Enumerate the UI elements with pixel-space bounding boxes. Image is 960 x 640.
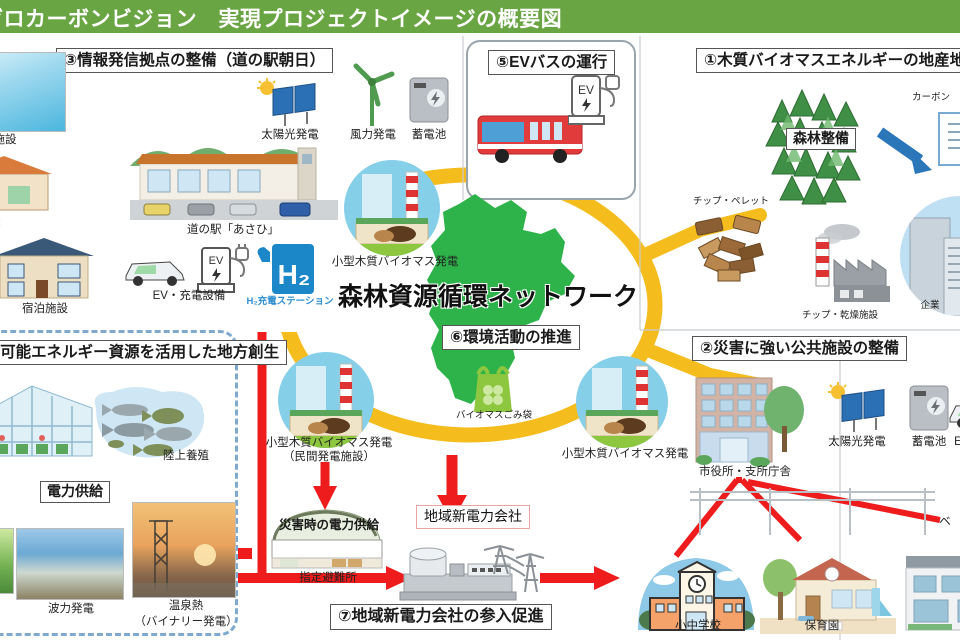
wave-power-photo <box>16 528 124 600</box>
greenhouse-icon <box>0 382 96 466</box>
power-plant-icon <box>396 540 546 602</box>
chip-pellet-label: チップ・ペレット <box>676 196 786 207</box>
ev-car-icon <box>122 252 188 288</box>
page-title: ゼロカーボンビジョン 実現プロジェクトイメージの概要図 <box>0 3 562 33</box>
aquaculture-label: 陸上養殖 <box>146 450 226 464</box>
biomass-plant-left-label-1: 小型木質バイオマス発電 <box>252 437 406 451</box>
battery-icon-p3 <box>404 70 454 128</box>
green-field-photo <box>0 528 14 594</box>
shelter-label: 指定避難所 <box>272 572 384 586</box>
page-header: ゼロカーボンビジョン 実現プロジェクトイメージの概要図 <box>0 0 960 33</box>
biomass-plant-top-label: 小型木質バイオマス発電 <box>320 256 470 270</box>
power-lines-p2 <box>690 488 935 535</box>
disaster-power-label: 災害時の電力供給 <box>272 516 386 536</box>
other-facility-label: ベ <box>930 516 960 530</box>
lodging-house-icon <box>0 238 96 300</box>
michinoeki-label: 道の駅「あさひ」 <box>148 224 318 238</box>
chip-drying-label: チップ・乾燥施設 <box>780 310 900 321</box>
onsen-heat-photo <box>132 502 236 598</box>
carbon-credit-doc-icon <box>938 112 960 166</box>
wind-label-p3: 風力発電 <box>342 129 404 143</box>
svg-text:EV: EV <box>209 255 224 267</box>
panel-3-caption: ③情報発信拠点の整備（道の駅朝日） <box>56 48 333 73</box>
battery-label-p3: 蓄電池 <box>400 129 458 143</box>
red-arrow-group-p2 <box>676 480 940 556</box>
biomass-plant-left-label-2: （民間発電施設） <box>252 451 406 465</box>
item-6-caption: ⑥環境活動の推進 <box>442 325 580 350</box>
h2-station-label: H₂充電ステーション <box>245 296 335 307</box>
lodging-label: 宿泊施設 <box>0 303 100 317</box>
red-arrow-bottom-right <box>540 566 620 590</box>
facility-b-label: 設 <box>0 216 20 230</box>
biomass-plant-circle-left <box>278 352 374 448</box>
infographic-canvas: ゼロカーボンビジョン 実現プロジェクトイメージの概要図 <box>0 0 960 640</box>
ev-charging-label: EV・充電設備 <box>128 290 250 304</box>
wave-power-label: 波力発電 <box>16 603 126 617</box>
wind-turbine-icon <box>348 60 396 128</box>
h2-station-icon: H₂ <box>250 240 322 296</box>
biomass-plant-right-label: 小型木質バイオマス発電 <box>550 448 700 462</box>
school-label: 小中学校 <box>648 620 748 634</box>
new-power-company-label: 地域新電力会社 <box>416 505 530 529</box>
roadside-station-icon <box>130 120 338 220</box>
ev-charger-icon: EV <box>196 244 258 296</box>
power-supply-label: 電力供給 <box>40 481 110 503</box>
nursery-label: 保育園 <box>782 620 862 634</box>
ev-label-p2: E <box>946 436 960 450</box>
svg-text:EV: EV <box>578 83 594 97</box>
ev-bus-charger-icon: EV <box>568 72 626 128</box>
panel-7-caption: ⑦地域新電力会社の参入促進 <box>330 604 552 630</box>
battery-icon-p2 <box>904 378 954 436</box>
biomass-bag-icon <box>466 360 520 414</box>
ev-car-icon-p2 <box>948 394 960 430</box>
onsen-label-line1: 温泉熱 <box>132 600 240 614</box>
onsen-label-line2: （バイナリー発電） <box>132 616 240 630</box>
panel-1-caption: ①木質バイオマスエネルギーの地産地消 <box>696 48 960 73</box>
city-hall-icon <box>690 370 806 470</box>
other-facility-icon <box>900 548 960 634</box>
panel-4-caption: ④再生可能エネルギー資源を活用した地方創生 <box>0 340 287 365</box>
facility-a-label: 施設 <box>0 134 32 148</box>
biomass-plant-circle-top <box>344 160 440 256</box>
carbon-credit-label: カーボン <box>912 92 960 103</box>
spa-building-icon <box>0 152 52 214</box>
biomass-plant-circle-right <box>576 356 668 448</box>
biomass-bag-label: バイオマスごみ袋 <box>440 410 548 421</box>
company-circle-icon <box>900 196 960 316</box>
center-title: 森林資源循環ネットワーク <box>338 277 638 313</box>
city-hall-label: 市役所・支所庁舎 <box>680 466 810 480</box>
forest-maintenance-label: 森林整備 <box>786 128 856 150</box>
svg-text:H₂: H₂ <box>278 259 311 290</box>
company-label: 企業 <box>900 300 960 311</box>
solar-panel-icon-p2 <box>824 382 892 434</box>
blue-arrow-carbon <box>880 132 932 174</box>
solar-label-p2: 太陽光発電 <box>820 436 894 450</box>
pool-photo <box>0 52 66 132</box>
red-arrow-left-down <box>313 462 337 510</box>
wood-chips-icon <box>690 212 782 284</box>
chip-drying-plant-icon <box>790 220 900 310</box>
panel-2-caption: ②災害に強い公共施設の整備 <box>692 336 907 361</box>
